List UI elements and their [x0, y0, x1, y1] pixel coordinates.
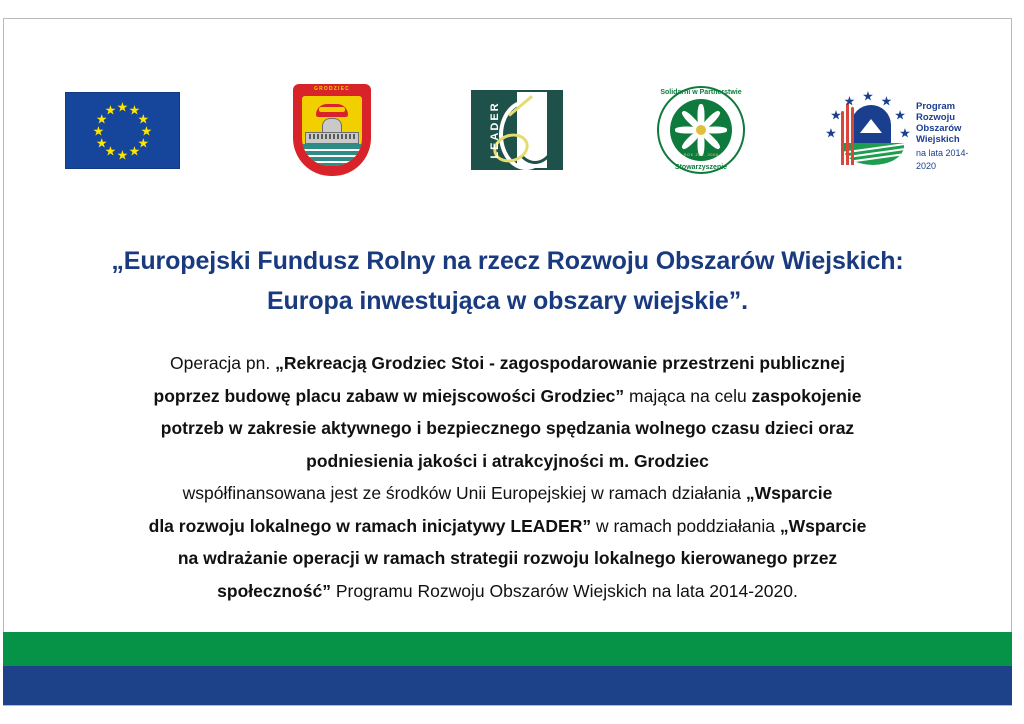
coa-caption: GRODZIEC	[302, 85, 362, 94]
body-line-8-plain: Programu Rozwoju Obszarów Wiejskich na l…	[331, 581, 798, 601]
grodziec-coat-of-arms-icon: GRODZIEC	[293, 84, 371, 176]
prow-logo-icon: ★★★★★★★ Program Rozwoju Obszarów Wiejski…	[824, 87, 984, 173]
body-line-6-bold-b: „Wsparcie	[780, 516, 867, 536]
coa-wall-crenel	[321, 134, 323, 139]
leader-logo-icon: LEADER	[471, 90, 563, 170]
prow-word-3: Obszarów	[916, 123, 986, 134]
body-line-5-bold: „Wsparcie	[746, 483, 833, 503]
seal-year-text: ROK ZAŁ. 2008	[657, 152, 745, 157]
prow-star-icon: ★	[899, 127, 912, 140]
body-copy: Operacja pn. „Rekreacją Grodziec Stoi - …	[4, 347, 1011, 607]
prow-star-icon: ★	[862, 90, 875, 103]
coa-wall-crenel	[313, 134, 315, 139]
coa-water-stripe	[302, 161, 362, 163]
body-line-3: potrzeb w zakresie aktywnego i bezpieczn…	[4, 412, 1011, 445]
coa-wall-crenel	[353, 134, 355, 139]
coa-crown	[316, 104, 348, 117]
seal-flower-core	[696, 125, 706, 135]
body-line-8-bold: społeczność”	[217, 581, 331, 601]
prow-star-icon: ★	[880, 94, 893, 107]
solidarni-w-partnerstwie-seal-icon: ROK ZAŁ. 2008 Solidarni w Partnerstwie S…	[657, 86, 745, 174]
prow-wheat-stalk	[846, 103, 849, 165]
body-line-7-bold: na wdrażanie operacji w ramach strategii…	[178, 548, 837, 568]
logo-strip: ★★★★★★★★★★★★ GRODZIEC	[4, 75, 1011, 185]
leader-wordmark: LEADER	[489, 95, 501, 165]
coa-wall-crenel	[345, 134, 347, 139]
body-line-6: dla rozwoju lokalnego w ramach inicjatyw…	[4, 510, 1011, 543]
information-board: ★★★★★★★★★★★★ GRODZIEC	[3, 18, 1012, 706]
coa-wall	[305, 132, 359, 144]
eu-star-icon: ★	[128, 145, 141, 158]
headline-line-1: „Europejski Fundusz Rolny na rzecz Rozwo…	[4, 241, 1011, 281]
prow-star-icon: ★	[843, 94, 856, 107]
coa-wall-crenel	[333, 134, 335, 139]
coa-water	[302, 144, 362, 166]
coa-wall-crenel	[309, 134, 311, 139]
logo-slot-leader: LEADER	[432, 75, 602, 185]
body-line-2-plain: mająca na celu	[624, 386, 751, 406]
eu-star-icon: ★	[104, 103, 117, 116]
eu-star-icon: ★	[116, 148, 129, 161]
coa-wall-crenel	[317, 134, 319, 139]
logo-slot-prow: ★★★★★★★ Program Rozwoju Obszarów Wiejski…	[804, 75, 1004, 185]
logo-slot-grodziec: GRODZIEC	[252, 75, 412, 185]
prow-emblem: ★★★★★★★	[824, 89, 910, 171]
coa-water-stripe	[302, 149, 362, 151]
body-line-3-bold: potrzeb w zakresie aktywnego i bezpieczn…	[161, 418, 854, 438]
body-line-7: na wdrażanie operacji w ramach strategii…	[4, 542, 1011, 575]
coa-wall-crenel	[341, 134, 343, 139]
body-line-4: podniesienia jakości i atrakcyjności m. …	[4, 445, 1011, 478]
coa-water-stripe	[302, 155, 362, 157]
footer-bar-blue	[3, 666, 1012, 705]
headline: „Europejski Fundusz Rolny na rzecz Rozwo…	[4, 241, 1011, 321]
coa-wall-crenel	[337, 134, 339, 139]
seal-top-text: Solidarni w Partnerstwie	[657, 89, 745, 96]
body-line-6-bold-a: dla rozwoju lokalnego w ramach inicjatyw…	[149, 516, 591, 536]
body-line-1-bold: „Rekreacją Grodziec Stoi - zagospodarowa…	[275, 353, 845, 373]
prow-star-icon: ★	[829, 108, 842, 121]
prow-star-icon: ★	[825, 127, 838, 140]
prow-wheat-stalk	[851, 107, 854, 165]
body-line-8: społeczność” Programu Rozwoju Obszarów W…	[4, 575, 1011, 608]
body-line-1: Operacja pn. „Rekreacją Grodziec Stoi - …	[4, 347, 1011, 380]
coa-field	[302, 96, 362, 166]
body-line-2-bold-b: zaspokojenie	[752, 386, 862, 406]
body-line-2: poprzez budowę placu zabaw w miejscowośc…	[4, 380, 1011, 413]
coa-wall-crenel	[349, 134, 351, 139]
body-line-4-bold: podniesienia jakości i atrakcyjności m. …	[306, 451, 709, 471]
body-line-1-plain: Operacja pn.	[170, 353, 275, 373]
prow-word-4: Wiejskich	[916, 134, 986, 145]
footer-bar-green	[3, 632, 1012, 666]
logo-slot-eu: ★★★★★★★★★★★★	[22, 75, 222, 185]
coa-wall-crenel	[329, 134, 331, 139]
prow-word-1: Program	[916, 101, 986, 112]
prow-years: na lata 2014-2020	[916, 147, 986, 173]
coa-wall-crenel	[325, 134, 327, 139]
logo-slot-solidarni: ROK ZAŁ. 2008 Solidarni w Partnerstwie S…	[616, 75, 786, 185]
prow-star-icon: ★	[894, 108, 907, 121]
prow-word-2: Rozwoju	[916, 112, 986, 123]
body-line-6-plain: w ramach poddziałania	[591, 516, 780, 536]
headline-line-2: Europa inwestująca w obszary wiejskie”.	[4, 281, 1011, 321]
seal-bottom-text: Stowarzyszenie	[657, 164, 745, 171]
body-line-5: współfinansowana jest ze środków Unii Eu…	[4, 477, 1011, 510]
body-line-2-bold-a: poprzez budowę placu zabaw w miejscowośc…	[154, 386, 625, 406]
prow-wordmark: Program Rozwoju Obszarów Wiejskich na la…	[916, 101, 986, 173]
eu-flag-icon: ★★★★★★★★★★★★	[65, 92, 180, 169]
body-line-5-plain: współfinansowana jest ze środków Unii Eu…	[183, 483, 746, 503]
